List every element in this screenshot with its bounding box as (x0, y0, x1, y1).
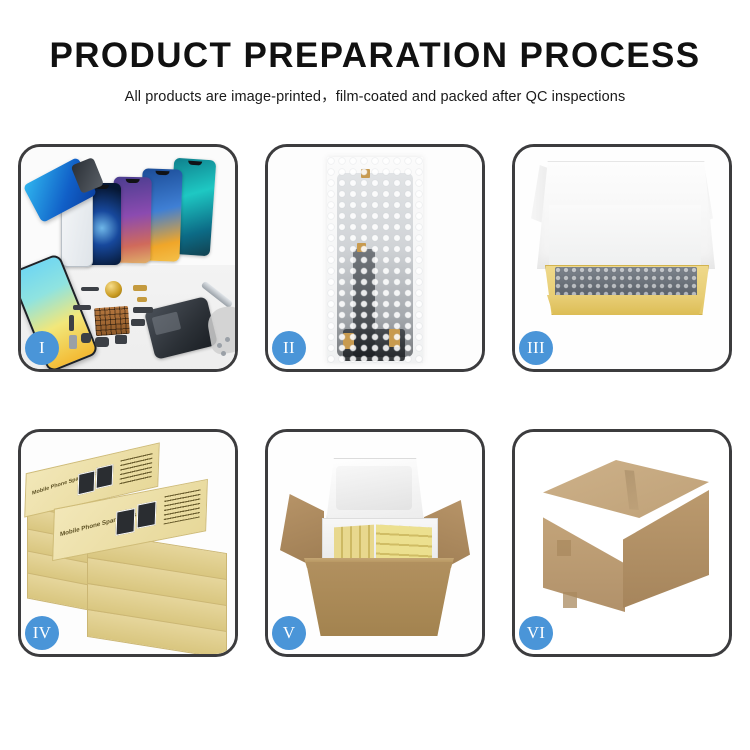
box-label-phone-img-back-1 (78, 470, 96, 495)
carton-tape-lower (563, 592, 577, 608)
part-screw-3 (221, 351, 226, 356)
vibration-motor-part (105, 281, 122, 298)
box-label-phone-img-back-2 (96, 464, 114, 489)
box-label-spec-lines-back (120, 453, 153, 485)
step-badge-2: II (272, 331, 306, 365)
part-connector-2 (137, 297, 147, 302)
carton-tape-upper (557, 540, 571, 556)
box-tray-front (547, 295, 705, 315)
part-button-set (115, 335, 127, 344)
process-step-panel-2[interactable]: II (265, 144, 485, 372)
logic-board-part (94, 306, 130, 336)
process-step-panel-3[interactable]: III (512, 144, 732, 372)
page-title: PRODUCT PREPARATION PROCESS (0, 38, 750, 75)
bubble-wrapped-contents (555, 267, 697, 297)
part-flex-cable-1 (81, 287, 99, 291)
step-badge-5: V (272, 616, 306, 650)
part-screw-2 (225, 337, 230, 342)
page-subtitle: All products are image-printed，film-coat… (0, 85, 750, 106)
part-bracket-2 (131, 319, 145, 326)
step-badge-3: III (519, 331, 553, 365)
box-label-spec-lines-front (164, 489, 201, 524)
process-step-panel-1[interactable]: I (18, 144, 238, 372)
carton-body (306, 562, 452, 636)
step-badge-4: IV (25, 616, 59, 650)
part-sim-tray (69, 335, 77, 349)
box-inner-wall (549, 205, 701, 271)
process-step-grid: I II (18, 144, 732, 657)
bubble-texture (327, 157, 423, 363)
process-step-panel-5[interactable]: V (265, 429, 485, 657)
part-speaker (95, 337, 109, 347)
foam-box-lid-inner (336, 466, 412, 510)
step-badge-6: VI (519, 616, 553, 650)
process-step-panel-4[interactable]: Mobile Phone Spare Parts Mobile Phone Sp… (18, 429, 238, 657)
part-screw-1 (217, 343, 222, 348)
box-label-phone-img-front-2 (137, 501, 157, 529)
page-header: PRODUCT PREPARATION PROCESS All products… (0, 0, 750, 106)
part-flex-cable-3 (69, 315, 74, 331)
part-camera-module (81, 333, 91, 343)
bubble-wrap-bag (327, 157, 423, 363)
part-bracket-1 (133, 307, 153, 313)
process-step-panel-6[interactable]: VI (512, 429, 732, 657)
step-badge-1: I (25, 331, 59, 365)
part-flex-cable-2 (73, 305, 91, 310)
box-label-phone-img-front-1 (116, 508, 136, 536)
part-connector-1 (133, 285, 147, 291)
